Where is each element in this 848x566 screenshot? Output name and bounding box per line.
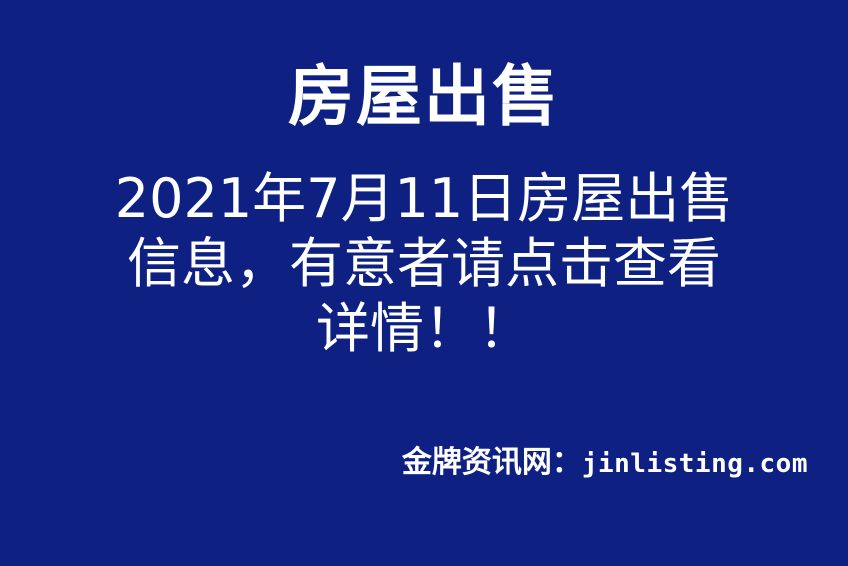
announcement-line-1: 2021年7月11日房屋出售 bbox=[64, 166, 784, 231]
announcement-text: 2021年7月11日房屋出售 信息，有意者请点击查看 详情！！ bbox=[64, 166, 784, 361]
site-credit-separator: ： bbox=[552, 445, 582, 480]
announcement-line-3: 详情！！ bbox=[64, 296, 784, 361]
site-credit: 金牌资讯网：jinlisting.com bbox=[0, 446, 808, 481]
poster-canvas: 房屋出售 2021年7月11日房屋出售 信息，有意者请点击查看 详情！！ 金牌资… bbox=[0, 0, 848, 566]
site-url-label: jinlisting.com bbox=[582, 449, 808, 479]
site-name-label: 金牌资讯网 bbox=[402, 445, 552, 480]
announcement-line-2: 信息，有意者请点击查看 bbox=[64, 231, 784, 296]
page-title: 房屋出售 bbox=[0, 58, 848, 136]
